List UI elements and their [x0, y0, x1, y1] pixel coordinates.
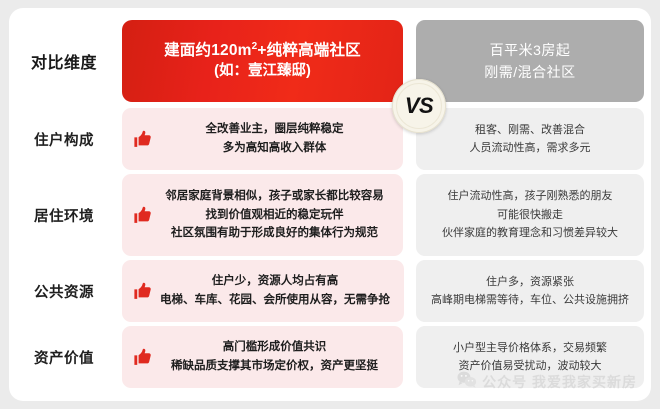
right-cell-line: 人员流动性高，需求多元: [470, 139, 591, 157]
left-cell-line: 电梯、车库、花园、会所使用从容，无需争抢: [160, 291, 390, 310]
right-cell: 住户多，资源紧张 高峰期电梯需等待，车位、公共设施拥挤: [416, 260, 644, 322]
left-cell: 住户少，资源人均占有高 电梯、车库、花园、会所使用从容，无需争抢: [122, 260, 404, 322]
left-cell-wrap: 邻居家庭背景相似，孩子或家长都比较容易 找到价值观相近的稳定玩伴 社区氛围有助于…: [119, 174, 409, 256]
right-column-header: 百平米3房起 刚需/混合社区: [416, 20, 644, 102]
left-cell-line: 稀缺品质支撑其市场定价权，资产更坚挺: [160, 357, 389, 376]
right-header-line1: 百平米3房起: [490, 39, 571, 61]
right-cell-line: 住户多，资源紧张: [486, 273, 574, 291]
left-cell-text: 邻居家庭背景相似，孩子或家长都比较容易 找到价值观相近的稳定玩伴 社区氛围有助于…: [160, 187, 395, 243]
thumbs-up-icon: [126, 280, 160, 302]
watermark: 公众号 我爱我家买新房: [457, 371, 637, 393]
right-cell-wrap: 租客、刚需、改善混合 人员流动性高，需求多元: [409, 108, 651, 170]
left-cell-wrap: 住户少，资源人均占有高 电梯、车库、花园、会所使用从容，无需争抢: [119, 260, 409, 322]
left-header-line1: 建面约120m2+纯粹高端社区: [164, 41, 361, 61]
table-row: 居住环境 邻居家庭背景相似，孩子或家长都比较容易 找到价值观相近的稳定玩伴 社区…: [9, 174, 651, 256]
left-cell-line: 找到价值观相近的稳定玩伴: [160, 206, 389, 225]
left-cell-text: 全改善业主，圈层纯粹稳定 多为高知高收入群体: [160, 120, 395, 157]
right-cell-line: 住户流动性高，孩子刚熟悉的朋友: [448, 187, 613, 205]
left-header-line1-prefix: 建面约120m: [164, 42, 252, 59]
right-cell-wrap: 住户多，资源紧张 高峰期电梯需等待，车位、公共设施拥挤: [409, 260, 651, 322]
right-header-wrap: 百平米3房起 刚需/混合社区: [409, 20, 651, 102]
right-cell-line: 小户型主导价格体系，交易频繁: [453, 339, 607, 357]
row-label: 住户构成: [34, 129, 94, 150]
table-row: 住户构成 全改善业主，圈层纯粹稳定 多为高知高收入群体: [9, 108, 651, 170]
wechat-icon: [457, 371, 477, 393]
left-cell-line: 住户少，资源人均占有高: [160, 272, 390, 291]
left-cell-wrap: 全改善业主，圈层纯粹稳定 多为高知高收入群体: [119, 108, 409, 170]
thumbs-up-icon: [126, 128, 160, 150]
thumbs-up-icon: [126, 346, 160, 368]
table-header-row: 对比维度 建面约120m2+纯粹高端社区 (如：壹江臻邸) 百平米3房起 刚需/…: [9, 20, 651, 102]
left-cell-text: 高门槛形成价值共识 稀缺品质支撑其市场定价权，资产更坚挺: [160, 338, 395, 375]
right-cell-wrap: 住户流动性高，孩子刚熟悉的朋友 可能很快搬走 伙伴家庭的教育理念和习惯差异较大: [409, 174, 651, 256]
vs-label: VS: [405, 93, 433, 119]
row-label-cell: 资产价值: [9, 326, 119, 388]
right-cell: 租客、刚需、改善混合 人员流动性高，需求多元: [416, 108, 644, 170]
table-row: 公共资源 住户少，资源人均占有高 电梯、车库、花园、会所使用从容，无需争抢: [9, 260, 651, 322]
right-cell-line: 租客、刚需、改善混合: [475, 121, 585, 139]
dimension-header-cell: 对比维度: [9, 20, 119, 102]
left-cell-line: 高门槛形成价值共识: [160, 338, 389, 357]
row-label: 居住环境: [34, 205, 94, 226]
right-cell-line: 伙伴家庭的教育理念和习惯差异较大: [442, 224, 618, 242]
left-cell-wrap: 高门槛形成价值共识 稀缺品质支撑其市场定价权，资产更坚挺: [119, 326, 409, 388]
left-cell: 邻居家庭背景相似，孩子或家长都比较容易 找到价值观相近的稳定玩伴 社区氛围有助于…: [122, 174, 403, 256]
right-cell-line: 可能很快搬走: [497, 206, 563, 224]
vs-badge: VS: [392, 79, 446, 133]
left-cell-text: 住户少，资源人均占有高 电梯、车库、花园、会所使用从容，无需争抢: [160, 272, 396, 309]
row-label: 公共资源: [34, 281, 94, 302]
left-cell-line: 多为高知高收入群体: [160, 139, 389, 158]
page-title: 对比维度: [31, 49, 97, 73]
left-cell-line: 社区氛围有助于形成良好的集体行为规范: [160, 224, 389, 243]
left-column-header: 建面约120m2+纯粹高端社区 (如：壹江臻邸): [122, 20, 403, 102]
thumbs-up-icon: [126, 204, 160, 226]
row-label-cell: 公共资源: [9, 260, 119, 322]
left-cell-line: 邻居家庭背景相似，孩子或家长都比较容易: [160, 187, 389, 206]
comparison-card: 对比维度 建面约120m2+纯粹高端社区 (如：壹江臻邸) 百平米3房起 刚需/…: [9, 8, 651, 401]
watermark-text: 公众号 我爱我家买新房: [482, 372, 637, 392]
left-header-line1-suffix: +纯粹高端社区: [257, 42, 360, 59]
row-label-cell: 住户构成: [9, 108, 119, 170]
right-cell: 住户流动性高，孩子刚熟悉的朋友 可能很快搬走 伙伴家庭的教育理念和习惯差异较大: [416, 174, 644, 256]
left-header-line2: (如：壹江臻邸): [214, 62, 311, 81]
left-header-wrap: 建面约120m2+纯粹高端社区 (如：壹江臻邸): [119, 20, 409, 102]
left-cell: 全改善业主，圈层纯粹稳定 多为高知高收入群体: [122, 108, 403, 170]
right-header-line2: 刚需/混合社区: [484, 61, 575, 83]
row-label: 资产价值: [34, 347, 94, 368]
left-cell-line: 全改善业主，圈层纯粹稳定: [160, 120, 389, 139]
comparison-table: 对比维度 建面约120m2+纯粹高端社区 (如：壹江臻邸) 百平米3房起 刚需/…: [9, 8, 651, 401]
row-label-cell: 居住环境: [9, 174, 119, 256]
right-cell-line: 高峰期电梯需等待，车位、公共设施拥挤: [431, 291, 629, 309]
left-cell: 高门槛形成价值共识 稀缺品质支撑其市场定价权，资产更坚挺: [122, 326, 403, 388]
